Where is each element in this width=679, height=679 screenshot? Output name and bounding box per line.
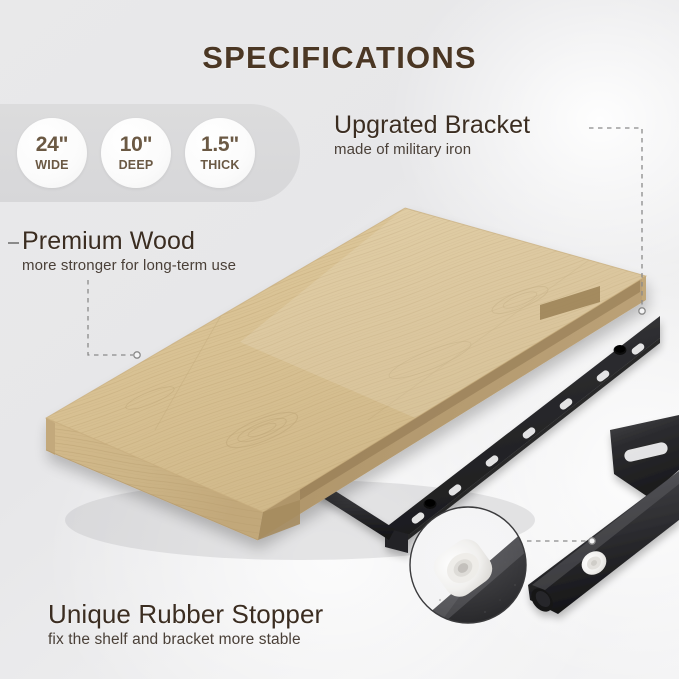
bracket-callout: Upgrated Bracket made of military iron (334, 112, 530, 159)
secondary-bracket (527, 415, 679, 616)
rubber-stopper-callout-subtext: fix the shelf and bracket more stable (48, 631, 323, 649)
bracket-callout-heading: Upgrated Bracket (334, 112, 530, 138)
bracket-callout-subtext: made of military iron (334, 141, 530, 158)
infographic-canvas: SPECIFICATIONS 24" WIDE 10" DEEP 1.5" TH… (0, 0, 679, 679)
wood-callout-heading: Premium Wood (22, 228, 236, 254)
wood-callout-subtext: more stronger for long-term use (22, 257, 236, 274)
product-illustration (0, 0, 679, 679)
wood-callout-tick (8, 242, 19, 244)
rubber-stopper-callout-heading: Unique Rubber Stopper (48, 601, 323, 628)
shelf-right-edge (642, 276, 646, 300)
wood-callout: Premium Wood more stronger for long-term… (22, 228, 236, 275)
rubber-stopper-callout: Unique Rubber Stopper fix the shelf and … (48, 601, 323, 649)
